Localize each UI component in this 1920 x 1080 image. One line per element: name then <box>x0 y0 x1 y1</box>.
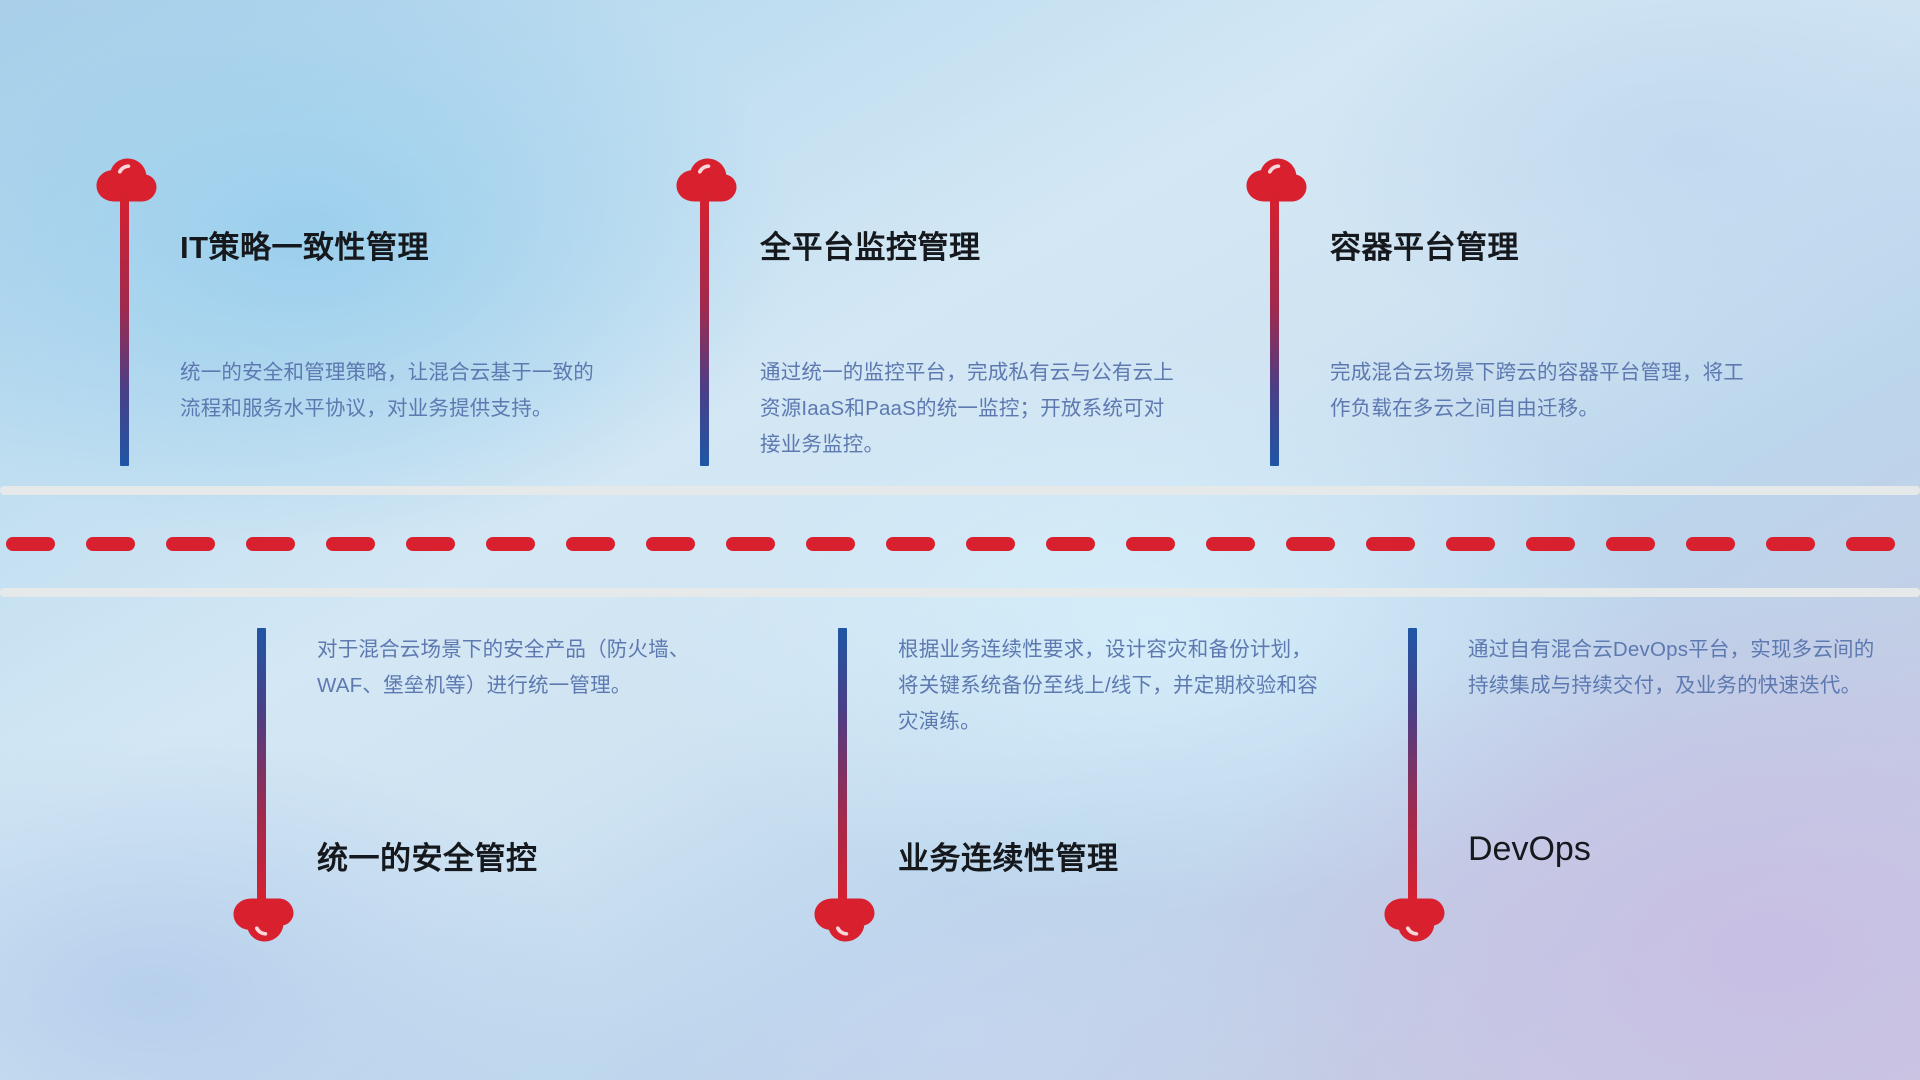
divider-dash <box>1526 537 1575 551</box>
item-title: 业务连续性管理 <box>898 833 1119 878</box>
divider-dash <box>886 537 935 551</box>
divider-dash <box>806 537 855 551</box>
item-description: 对于混合云场景下的安全产品（防火墙、WAF、堡垒机等）进行统一管理。 <box>317 632 737 704</box>
divider-dash <box>6 537 55 551</box>
item-description: 根据业务连续性要求，设计容灾和备份计划，将关键系统备份至线上/线下，并定期校验和… <box>898 632 1318 740</box>
divider-dash <box>1126 537 1175 551</box>
infographic-stage: IT策略一致性管理 统一的安全和管理策略，让混合云基于一致的流程和服务水平协议，… <box>0 0 1920 1080</box>
divider-dash <box>1366 537 1415 551</box>
cloud-icon <box>232 898 294 942</box>
stem-connector <box>1270 192 1279 466</box>
item-title: IT策略一致性管理 <box>180 222 429 267</box>
stem-connector <box>120 192 129 466</box>
item-description: 完成混合云场景下跨云的容器平台管理，将工作负载在多云之间自由迁移。 <box>1330 355 1750 427</box>
item-description: 通过统一的监控平台，完成私有云与公有云上资源IaaS和PaaS的统一监控；开放系… <box>760 355 1180 463</box>
stem-connector <box>700 192 709 466</box>
divider-dash <box>1206 537 1255 551</box>
divider-dash <box>1846 537 1895 551</box>
divider-dashed-line <box>0 537 1920 551</box>
item-description: 通过自有混合云DevOps平台，实现多云间的持续集成与持续交付，及业务的快速迭代… <box>1468 632 1888 704</box>
stem-connector <box>838 628 847 902</box>
divider-dash <box>1686 537 1735 551</box>
divider-dash <box>86 537 135 551</box>
cloud-icon <box>1383 898 1445 942</box>
divider-dash <box>726 537 775 551</box>
item-title: DevOps <box>1468 830 1591 869</box>
divider-dash <box>1606 537 1655 551</box>
item-title: 容器平台管理 <box>1330 222 1519 267</box>
item-description: 统一的安全和管理策略，让混合云基于一致的流程和服务水平协议，对业务提供支持。 <box>180 355 600 427</box>
divider-dash <box>1766 537 1815 551</box>
divider-dash <box>486 537 535 551</box>
divider-dash <box>406 537 455 551</box>
divider-dash <box>1046 537 1095 551</box>
divider-dash <box>566 537 615 551</box>
item-title: 统一的安全管控 <box>317 833 538 878</box>
divider-dash <box>326 537 375 551</box>
divider-dash <box>646 537 695 551</box>
stem-connector <box>257 628 266 902</box>
stem-connector <box>1408 628 1417 902</box>
divider-dash <box>1286 537 1335 551</box>
divider-dash <box>246 537 295 551</box>
divider-dash <box>966 537 1015 551</box>
divider-rule-top <box>0 486 1920 495</box>
divider-dash <box>166 537 215 551</box>
item-title: 全平台监控管理 <box>760 222 981 267</box>
cloud-icon <box>813 898 875 942</box>
divider-dash <box>1446 537 1495 551</box>
divider-rule-bottom <box>0 588 1920 597</box>
